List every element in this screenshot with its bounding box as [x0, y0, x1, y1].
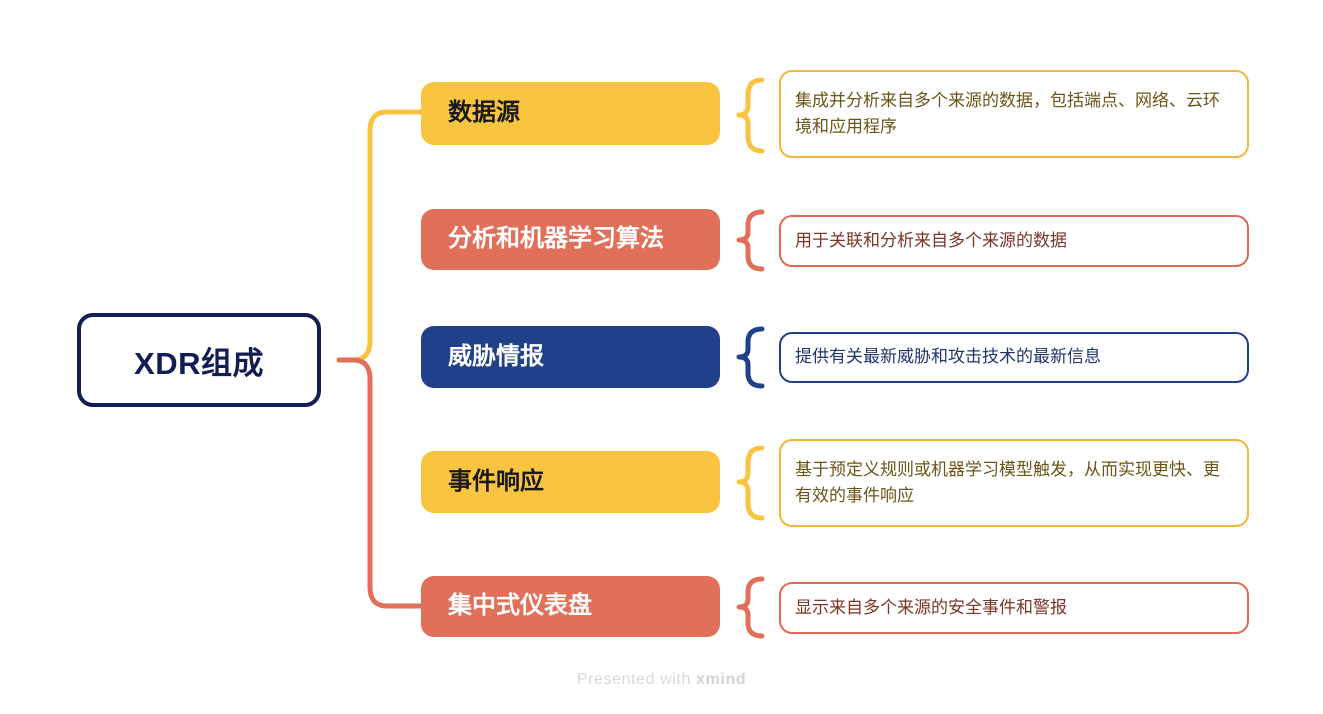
detail-node-2-label: 用于关联和分析来自多个来源的数据: [781, 228, 1081, 254]
detail-node-5-label: 显示来自多个来源的安全事件和警报: [781, 595, 1081, 621]
xmind-brand: xmind: [696, 671, 746, 688]
topic-node-5-label: 集中式仪表盘: [421, 593, 592, 619]
brace-icon-3: [739, 329, 762, 386]
topic-node-4-label: 事件响应: [421, 469, 544, 495]
detail-node-3-label: 提供有关最新威胁和攻击技术的最新信息: [781, 344, 1115, 370]
topic-node-3-label: 威胁情报: [421, 344, 544, 370]
connector-lower-trunk: [339, 360, 421, 606]
brace-icon-2: [739, 212, 762, 269]
brace-icon-1: [739, 80, 762, 151]
central-node-label: XDR组成: [134, 338, 264, 383]
detail-node-4[interactable]: 基于预定义规则或机器学习模型触发，从而实现更快、更有效的事件响应: [779, 439, 1249, 527]
detail-node-1[interactable]: 集成并分析来自多个来源的数据，包括端点、网络、云环境和应用程序: [779, 70, 1249, 158]
footer-watermark: Presented with xmind: [0, 671, 1323, 689]
topic-node-5[interactable]: 集中式仪表盘: [421, 576, 720, 637]
topic-node-2-label: 分析和机器学习算法: [421, 226, 664, 252]
detail-node-4-label: 基于预定义规则或机器学习模型触发，从而实现更快、更有效的事件响应: [781, 457, 1247, 510]
brace-icon-4: [739, 448, 762, 518]
detail-node-3[interactable]: 提供有关最新威胁和攻击技术的最新信息: [779, 332, 1249, 383]
topic-node-3[interactable]: 威胁情报: [421, 326, 720, 388]
topic-node-2[interactable]: 分析和机器学习算法: [421, 209, 720, 270]
topic-node-1-label: 数据源: [421, 100, 520, 126]
detail-node-2[interactable]: 用于关联和分析来自多个来源的数据: [779, 215, 1249, 267]
topic-node-4[interactable]: 事件响应: [421, 451, 720, 513]
detail-node-1-label: 集成并分析来自多个来源的数据，包括端点、网络、云环境和应用程序: [781, 88, 1247, 141]
detail-node-5[interactable]: 显示来自多个来源的安全事件和警报: [779, 582, 1249, 634]
topic-node-1[interactable]: 数据源: [421, 82, 720, 145]
central-node[interactable]: XDR组成: [77, 313, 321, 407]
connector-upper-trunk: [339, 112, 421, 360]
footer-prefix: Presented with: [577, 671, 696, 688]
brace-icon-5: [739, 579, 762, 636]
mindmap-canvas: XDR组成 数据源 集成并分析来自多个来源的数据，包括端点、网络、云环境和应用程…: [0, 0, 1323, 714]
